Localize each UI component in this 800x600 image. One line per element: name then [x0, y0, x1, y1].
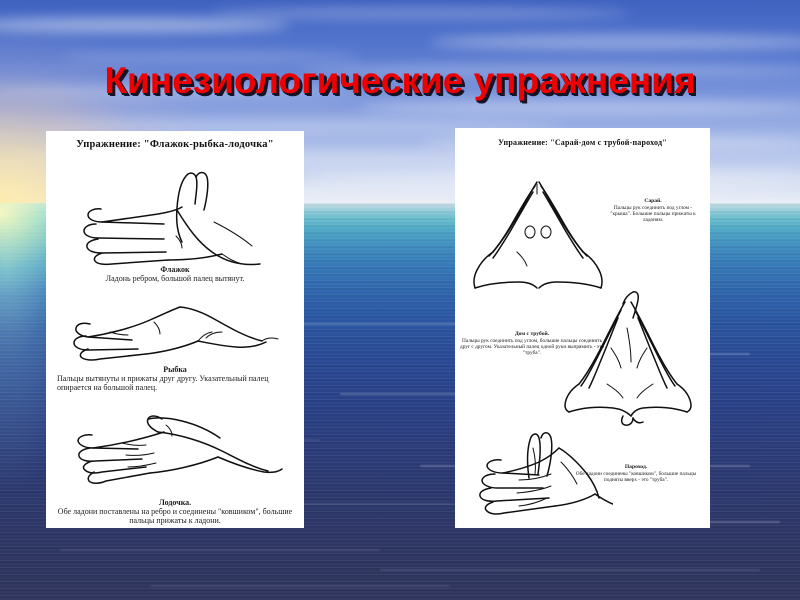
exercise-card-left[interactable]: Упражнение: "Флажок-рыбка-лодочка" Флажо… — [46, 131, 304, 528]
caption-body: Обе ладони соединены "ковшиком", большие… — [576, 471, 696, 483]
caption-saray: Сарай. Пальцы рук соединить под углом - … — [605, 198, 701, 223]
hand-flag-edge-thumb-up-icon — [46, 154, 304, 266]
card-right-title: Упражнение: "Сарай-дом с трубой-пароход" — [455, 138, 710, 147]
exercise-card-right[interactable]: Упражнение: "Сарай-дом с трубой-пароход" — [455, 128, 710, 528]
caption-lodochka: Лодочка. Обе ладони поставлены на ребро … — [57, 499, 293, 526]
caption-rybka: Рыбка Пальцы вытянуты и прижаты друг дру… — [57, 366, 293, 393]
hands-roof-shed-icon — [473, 170, 603, 292]
figure-rybka: Рыбка Пальцы вытянуты и прижаты друг дру… — [46, 294, 304, 393]
card-left-title: Упражнение: "Флажок-рыбка-лодочка" — [46, 139, 304, 150]
caption-head: Пароход. — [573, 464, 699, 471]
caption-parohod: Пароход. Обе ладони соединены "ковшиком"… — [573, 464, 699, 483]
hands-house-with-chimney-icon — [563, 288, 703, 428]
slide-title: Кинезиологические упражнения — [0, 60, 800, 102]
presentation-slide: Кинезиологические упражнения Упражнение:… — [0, 0, 800, 600]
figure-flazhok: Флажок Ладонь ребром, большой палец вытя… — [46, 154, 304, 284]
caption-body: Пальцы рук соединить под углом - "крыша"… — [610, 205, 695, 224]
caption-flazhok: Флажок Ладонь ребром, большой палец вытя… — [57, 266, 293, 284]
caption-body: Обе ладони поставлены на ребро и соедине… — [58, 507, 292, 525]
hand-fish-flat-fingers-icon — [46, 294, 304, 366]
caption-head: Сарай. — [605, 198, 701, 205]
hands-boat-cupped-icon — [46, 405, 304, 497]
caption-body: Ладонь ребром, большой палец вытянут. — [106, 274, 245, 283]
figure-saray — [473, 170, 603, 292]
caption-body: Пальцы вытянуты и прижаты друг другу. Ук… — [57, 374, 268, 392]
figure-lodochka: Лодочка. Обе ладони поставлены на ребро … — [46, 405, 304, 526]
figure-dom-s-truboy — [563, 288, 703, 428]
